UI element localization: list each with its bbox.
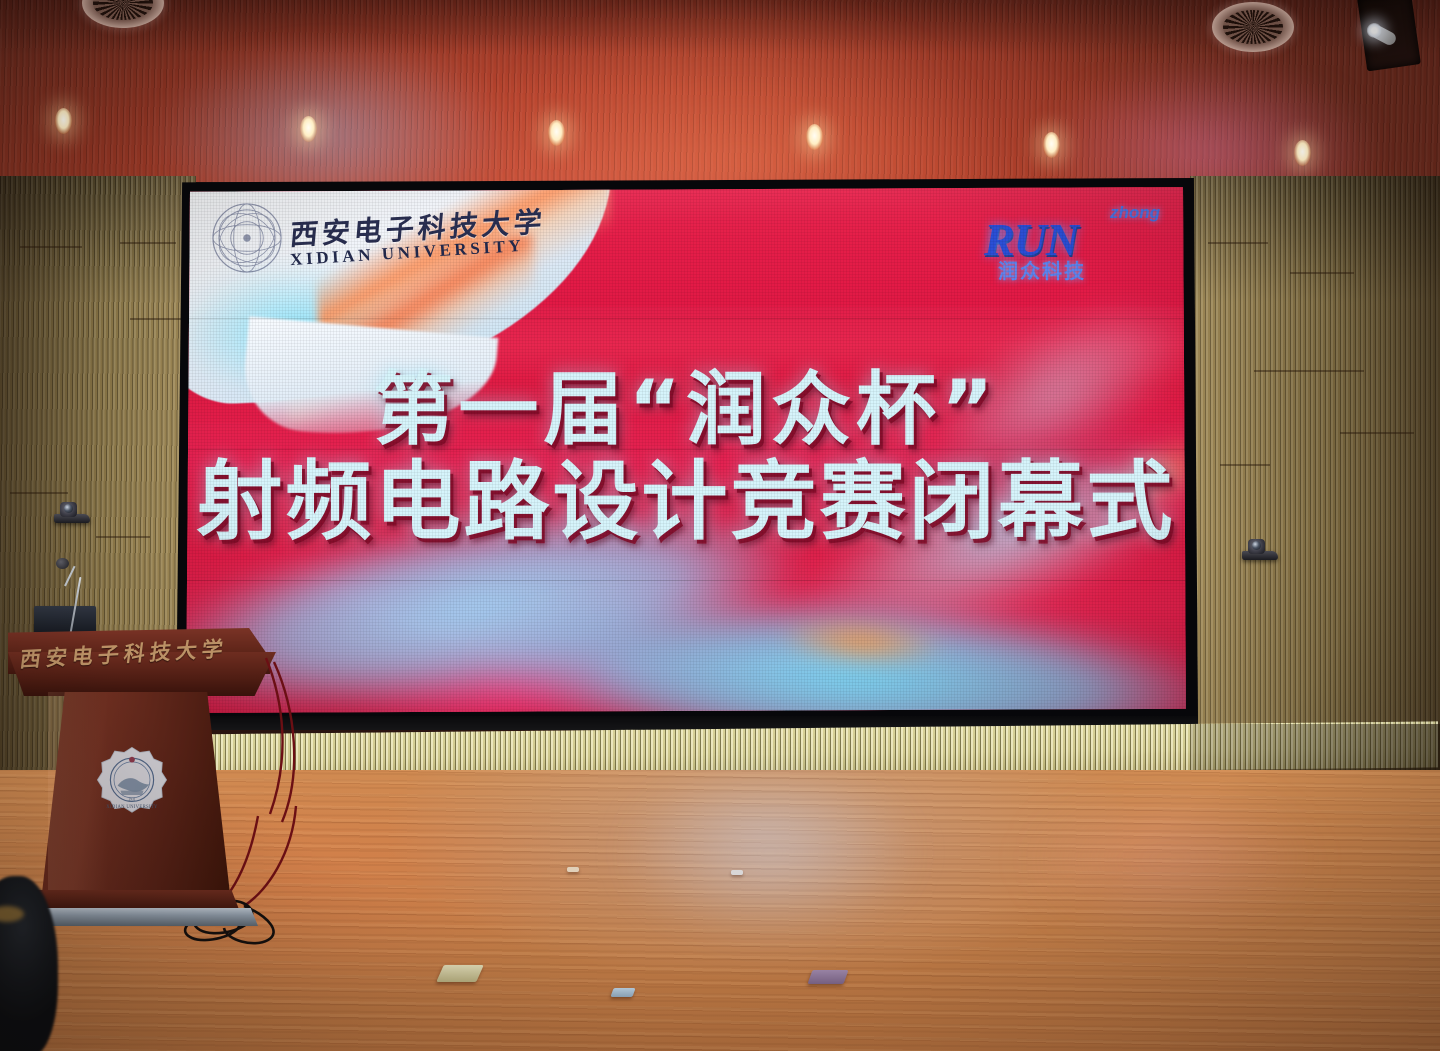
camera-lens-icon [64,504,73,513]
ceiling-downlight [300,116,317,142]
ceiling-blue-glow [150,40,510,200]
speaker-podium: 西安电子科技大学 1931 XIDIAN UNIVERSITY [8,606,276,936]
ceiling-downlight [548,120,565,146]
wall-panel-seam [1220,464,1270,466]
ptz-camera [54,501,90,523]
led-module-seam [186,318,1186,319]
led-module-seam [186,580,1186,581]
sponsor-logo: RUN zhong 润众科技 [984,201,1164,277]
ceiling-warm-glow [480,0,1000,190]
podium-cables [8,606,276,936]
ceiling-downlight [1043,132,1060,158]
xidian-university-seal-icon [210,201,284,275]
wall-panel-seam [1254,370,1364,372]
led-screen: 西安电子科技大学 XIDIAN UNIVERSITY RUN zhong 润众科… [186,187,1186,713]
ceiling-downlight [55,108,72,134]
ceiling-air-diffuser [1212,2,1294,52]
camera-lens-icon [1252,541,1261,550]
led-module-seam [186,449,1186,450]
wall-panel-seam [1208,242,1268,244]
ceiling-light-alcove [1357,0,1421,71]
wall-panel-seam [1340,432,1414,434]
auditorium-stage-photo: 西安电子科技大学 XIDIAN UNIVERSITY RUN zhong 润众科… [0,0,1440,1051]
ceiling-downlight [1294,140,1311,166]
wall-panel-seam [96,536,150,538]
event-title-line-1: 第一届“润众杯” [186,370,1186,450]
sponsor-name-cn: 润众科技 [998,255,1086,284]
spotlight-fixture [1369,23,1398,47]
wall-panel-seam [20,246,82,248]
ceiling-downlight [806,124,823,150]
wall-panel-seam [1290,272,1354,274]
microphone-capsule-icon [56,558,69,569]
led-screen-bezel: 西安电子科技大学 XIDIAN UNIVERSITY RUN zhong 润众科… [176,178,1198,724]
wall-panel-seam [10,492,68,494]
ptz-camera [1242,538,1278,560]
sponsor-superscript: zhong [1110,203,1160,223]
wall-panel-seam [130,318,182,320]
ceiling [0,0,1440,182]
wall-panel-seam [120,242,176,244]
event-title-line-2: 射频电路设计竞赛闭幕式 [186,459,1186,545]
